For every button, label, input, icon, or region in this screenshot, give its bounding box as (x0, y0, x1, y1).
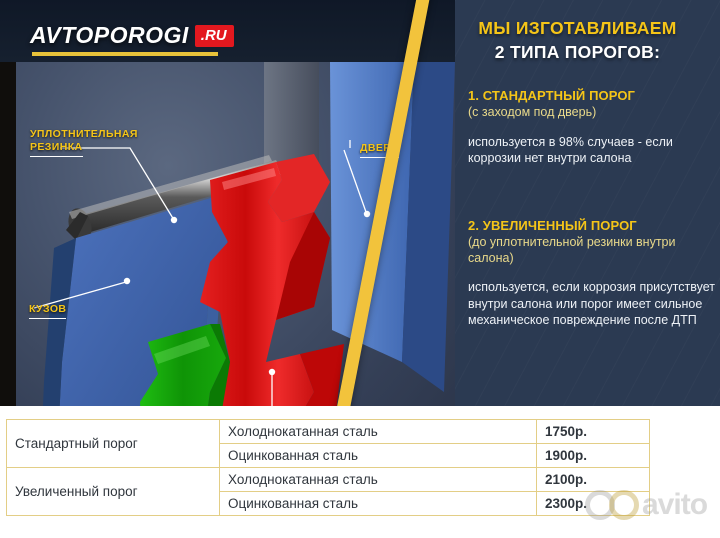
panel-heading: МЫ ИЗГОТАВЛИВАЕМ 2 ТИПА ПОРОГОВ: (455, 18, 700, 63)
section-enlarged-title: 2. УВЕЛИЧЕННЫЙ ПОРОГ (468, 218, 716, 234)
cell-material: Оцинкованная сталь (220, 492, 537, 516)
label-seal-line2: РЕЗИНКА (30, 141, 83, 157)
cell-type-enlarged: Увеличенный порог (7, 468, 220, 516)
infographic-page: УПЛОТНИТЕЛЬНАЯ РЕЗИНКА ДВЕРЬ КУЗОВ СТАНД… (0, 0, 720, 538)
heading-line2: 2 ТИПА ПОРОГОВ: (455, 42, 700, 63)
table-row: Увеличенный порог Холоднокатанная сталь … (7, 468, 650, 492)
section-enlarged-subtitle: (до уплотнительной резинки внутри салона… (468, 235, 716, 266)
label-body: КУЗОВ (29, 303, 66, 319)
cell-material: Оцинкованная сталь (220, 444, 537, 468)
logo-domain-badge: .RU (195, 25, 234, 47)
section-standard-body: используется в 98% случаев - если корроз… (468, 134, 716, 167)
table-row: Стандартный порог Холоднокатанная сталь … (7, 420, 650, 444)
section-standard-title: 1. СТАНДАРТНЫЙ ПОРОГ (468, 88, 716, 104)
enlarged-sill-top (268, 154, 330, 222)
cell-material: Холоднокатанная сталь (220, 420, 537, 444)
price-table-panel: Стандартный порог Холоднокатанная сталь … (0, 406, 720, 538)
cell-material: Холоднокатанная сталь (220, 468, 537, 492)
section-standard: 1. СТАНДАРТНЫЙ ПОРОГ (с заходом под двер… (468, 88, 716, 167)
cell-price: 1900р. (537, 444, 650, 468)
logo-underline-bar (32, 52, 218, 56)
label-seal-line1: УПЛОТНИТЕЛЬНАЯ (30, 128, 138, 140)
cell-type-standard: Стандартный порог (7, 420, 220, 468)
cell-price: 2100р. (537, 468, 650, 492)
section-enlarged: 2. УВЕЛИЧЕННЫЙ ПОРОГ (до уплотнительной … (468, 218, 716, 329)
label-seal: УПЛОТНИТЕЛЬНАЯ РЕЗИНКА (30, 128, 138, 157)
logo-wordmark: AVTOPOROGI (30, 22, 189, 49)
section-standard-subtitle: (с заходом под дверь) (468, 105, 716, 121)
brand-logo[interactable]: AVTOPOROGI .RU (30, 22, 234, 49)
section-enlarged-body: используется, если коррозия присутствует… (468, 279, 716, 329)
price-table: Стандартный порог Холоднокатанная сталь … (6, 419, 650, 516)
cell-price: 2300р. (537, 492, 650, 516)
label-body-text: КУЗОВ (29, 303, 66, 319)
cell-price: 1750р. (537, 420, 650, 444)
heading-line1: МЫ ИЗГОТАВЛИВАЕМ (455, 18, 700, 39)
